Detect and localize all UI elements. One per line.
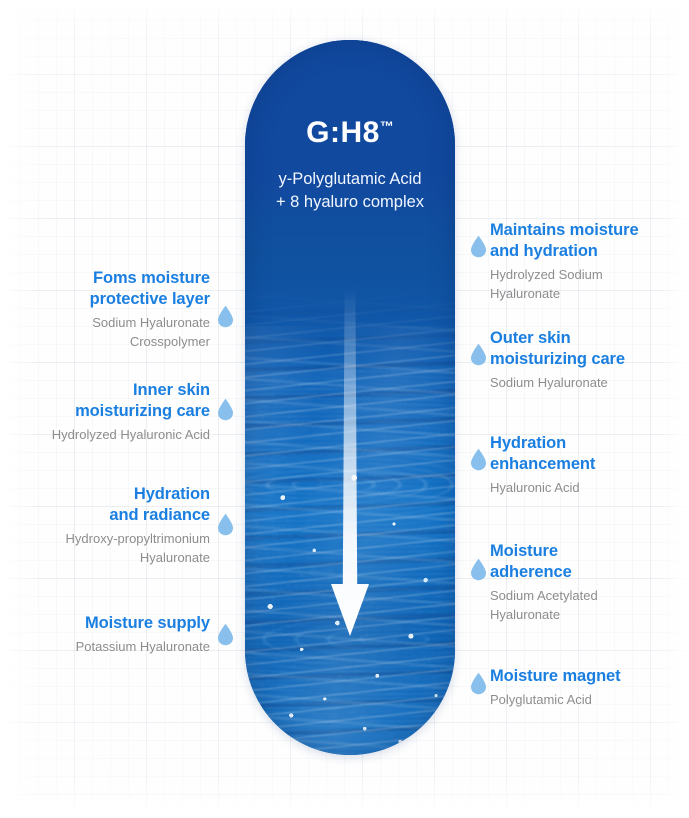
feature-ingredient: Sodium Acetylated Hyaluronate bbox=[490, 587, 675, 625]
subtitle-line-1: y-Polyglutamic Acid bbox=[245, 168, 455, 191]
feature-title-line-1: Moisture magnet bbox=[490, 666, 675, 687]
trademark-symbol: ™ bbox=[380, 118, 394, 134]
feature-ingredient-line-1: Sodium Hyaluronate bbox=[20, 314, 210, 333]
feature-ingredient: Polyglutamic Acid bbox=[490, 691, 675, 710]
feature-ingredient-line-1: Potassium Hyaluronate bbox=[20, 638, 210, 657]
water-droplet-icon bbox=[470, 558, 487, 581]
feature-ingredient-line-2: Hyaluronate bbox=[490, 285, 675, 304]
feature-title: Outer skin moisturizing care bbox=[490, 328, 675, 370]
feature-title-line-1: Moisture bbox=[490, 541, 675, 562]
feature-title: Hydration and radiance bbox=[20, 484, 210, 526]
feature-ingredient: Hydrolyzed Hyaluronic Acid bbox=[20, 426, 210, 445]
water-droplet-icon bbox=[470, 448, 487, 471]
feature-title-line-2: and hydration bbox=[490, 241, 675, 262]
water-droplet-icon bbox=[470, 343, 487, 366]
feature-title-line-1: Foms moisture bbox=[20, 268, 210, 289]
feature-label-moisture-magnet: Moisture magnet Polyglutamic Acid bbox=[490, 666, 675, 710]
feature-ingredient-line-2: Hyaluronate bbox=[20, 549, 210, 568]
feature-title-line-2: protective layer bbox=[20, 289, 210, 310]
feature-label-moisture-supply: Moisture supply Potassium Hyaluronate bbox=[20, 613, 210, 657]
feature-title-line-1: Moisture supply bbox=[20, 613, 210, 634]
feature-title-line-1: Inner skin bbox=[20, 380, 210, 401]
feature-ingredient-line-1: Sodium Acetylated bbox=[490, 587, 675, 606]
feature-title: Moisture supply bbox=[20, 613, 210, 634]
feature-ingredient: Hyaluronic Acid bbox=[490, 479, 675, 498]
feature-title-line-2: and radiance bbox=[20, 505, 210, 526]
feature-title-line-2: enhancement bbox=[490, 454, 675, 475]
feature-ingredient-line-2: Hyaluronate bbox=[490, 606, 675, 625]
capsule-subtitle: y-Polyglutamic Acid + 8 hyaluro complex bbox=[245, 168, 455, 215]
feature-ingredient-line-1: Hyaluronic Acid bbox=[490, 479, 675, 498]
feature-ingredient: Hydrolyzed Sodium Hyaluronate bbox=[490, 266, 675, 304]
feature-ingredient-line-1: Sodium Hyaluronate bbox=[490, 374, 675, 393]
feature-label-hydration-enhancement: Hydration enhancement Hyaluronic Acid bbox=[490, 433, 675, 498]
feature-title-line-2: adherence bbox=[490, 562, 675, 583]
product-capsule: G:H8™ y-Polyglutamic Acid + 8 hyaluro co… bbox=[245, 40, 455, 755]
feature-label-maintains-moisture: Maintains moisture and hydration Hydroly… bbox=[490, 220, 675, 304]
feature-title-line-1: Hydration bbox=[490, 433, 675, 454]
brand-name: G:H8 bbox=[306, 116, 380, 149]
feature-title-line-2: moisturizing care bbox=[490, 349, 675, 370]
feature-label-hydration-radiance: Hydration and radiance Hydroxy-propyltri… bbox=[20, 484, 210, 568]
feature-ingredient-line-1: Polyglutamic Acid bbox=[490, 691, 675, 710]
feature-ingredient: Sodium Hyaluronate Crosspolymer bbox=[20, 314, 210, 352]
feature-ingredient: Hydroxy-propyltrimonium Hyaluronate bbox=[20, 530, 210, 568]
feature-label-inner-skin: Inner skin moisturizing care Hydrolyzed … bbox=[20, 380, 210, 445]
feature-ingredient-line-1: Hydrolyzed Hyaluronic Acid bbox=[20, 426, 210, 445]
feature-ingredient-line-1: Hydroxy-propyltrimonium bbox=[20, 530, 210, 549]
down-arrow-icon bbox=[328, 288, 372, 641]
feature-title-line-1: Maintains moisture bbox=[490, 220, 675, 241]
feature-title: Hydration enhancement bbox=[490, 433, 675, 475]
feature-title: Maintains moisture and hydration bbox=[490, 220, 675, 262]
subtitle-line-2: + 8 hyaluro complex bbox=[245, 191, 455, 214]
feature-title: Moisture magnet bbox=[490, 666, 675, 687]
water-droplet-icon bbox=[217, 623, 234, 646]
feature-label-outer-skin: Outer skin moisturizing care Sodium Hyal… bbox=[490, 328, 675, 393]
feature-title: Inner skin moisturizing care bbox=[20, 380, 210, 422]
water-droplet-icon bbox=[470, 235, 487, 258]
water-droplet-icon bbox=[217, 513, 234, 536]
feature-ingredient-line-1: Hydrolyzed Sodium bbox=[490, 266, 675, 285]
feature-label-moisture-adherence: Moisture adherence Sodium Acetylated Hya… bbox=[490, 541, 675, 625]
feature-title-line-1: Outer skin bbox=[490, 328, 675, 349]
water-droplet-icon bbox=[217, 305, 234, 328]
feature-title: Foms moisture protective layer bbox=[20, 268, 210, 310]
feature-ingredient: Potassium Hyaluronate bbox=[20, 638, 210, 657]
feature-title: Moisture adherence bbox=[490, 541, 675, 583]
brand-title: G:H8™ bbox=[245, 118, 455, 148]
water-droplet-icon bbox=[470, 672, 487, 695]
feature-ingredient: Sodium Hyaluronate bbox=[490, 374, 675, 393]
water-droplet-icon bbox=[217, 398, 234, 421]
feature-title-line-1: Hydration bbox=[20, 484, 210, 505]
capsule-text-block: G:H8™ y-Polyglutamic Acid + 8 hyaluro co… bbox=[245, 40, 455, 215]
feature-title-line-2: moisturizing care bbox=[20, 401, 210, 422]
feature-label-foms-moisture: Foms moisture protective layer Sodium Hy… bbox=[20, 268, 210, 352]
feature-ingredient-line-2: Crosspolymer bbox=[20, 333, 210, 352]
